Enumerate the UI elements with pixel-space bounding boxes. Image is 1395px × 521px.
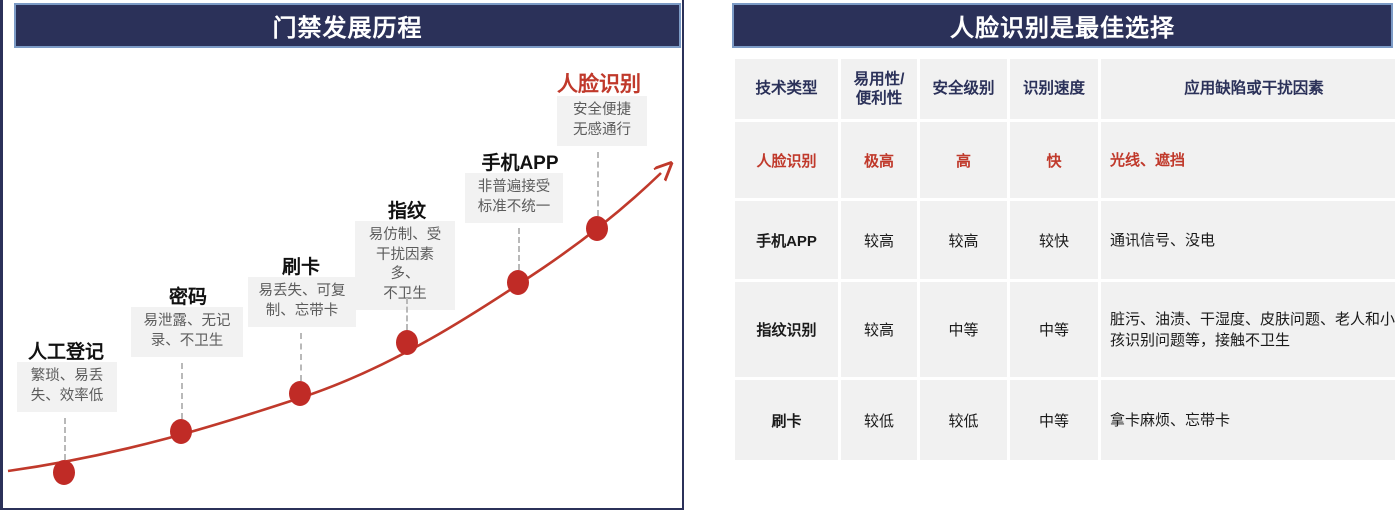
cell-security: 高 (920, 122, 1007, 198)
cell-usability: 较低 (841, 380, 917, 460)
column-header-drawbacks: 应用缺陷或干扰因素 (1101, 59, 1395, 119)
cell-speed: 较快 (1010, 201, 1098, 279)
cell-tech: 人脸识别 (735, 122, 838, 198)
data-point-4 (396, 330, 418, 355)
cell-security: 中等 (920, 282, 1007, 377)
data-point-5 (507, 270, 529, 295)
comparison-table: 技术类型 易用性/ 便利性 安全级别 识别速度 应用缺陷或干扰因素 人脸识别 极… (732, 56, 1395, 463)
table-row: 手机APP 较高 较高 较快 通讯信号、没电 (735, 201, 1395, 279)
table-row: 刷卡 较低 较低 中等 拿卡麻烦、忘带卡 (735, 380, 1395, 460)
cell-security: 较低 (920, 380, 1007, 460)
column-header-tech: 技术类型 (735, 59, 838, 119)
connector-1 (64, 418, 66, 460)
connector-3 (300, 333, 302, 381)
cell-speed: 快 (1010, 122, 1098, 198)
cell-usability: 极高 (841, 122, 917, 198)
cell-tech: 刷卡 (735, 380, 838, 460)
cell-usability: 较高 (841, 201, 917, 279)
stage-title-1: 人工登记 (11, 337, 121, 364)
slide-root: 门禁发展历程 人工登记 繁琐、易丢 失、效率低 密码 易泄露、无记 录、不卫生 (0, 0, 1395, 521)
stage-title-2: 密码 (133, 282, 243, 309)
stage-note-6: 安全便捷 无感通行 (557, 96, 647, 146)
comparison-panel: 人脸识别是最佳选择 技术类型 易用性/ 便利性 安全级别 识别速度 应用缺陷或干… (732, 0, 1395, 521)
stage-note-4: 易仿制、受 干扰因素多、 不卫生 (355, 221, 455, 310)
stage-note-5: 非普遍接受 标准不统一 (465, 173, 563, 223)
cell-drawbacks: 光线、遮挡 (1101, 122, 1395, 198)
cell-drawbacks: 脏污、油渍、干湿度、皮肤问题、老人和小孩识别问题等，接触不卫生 (1101, 282, 1395, 377)
stage-note-2: 易泄露、无记 录、不卫生 (131, 307, 243, 357)
table-row: 指纹识别 较高 中等 中等 脏污、油渍、干湿度、皮肤问题、老人和小孩识别问题等，… (735, 282, 1395, 377)
stage-title-4: 指纹 (359, 196, 455, 223)
cell-speed: 中等 (1010, 380, 1098, 460)
cell-usability: 较高 (841, 282, 917, 377)
cell-drawbacks: 通讯信号、没电 (1101, 201, 1395, 279)
stage-title-5: 手机APP (464, 148, 576, 175)
cell-speed: 中等 (1010, 282, 1098, 377)
evolution-chart-area: 人工登记 繁琐、易丢 失、效率低 密码 易泄露、无记 录、不卫生 刷卡 易丢失、… (3, 56, 682, 508)
data-point-1 (53, 460, 75, 485)
cell-tech: 手机APP (735, 201, 838, 279)
data-point-2 (170, 419, 192, 444)
stage-note-3: 易丢失、可复 制、忘带卡 (248, 277, 356, 327)
data-point-6 (586, 216, 608, 241)
cell-drawbacks: 拿卡麻烦、忘带卡 (1101, 380, 1395, 460)
connector-2 (181, 363, 183, 419)
comparison-title: 人脸识别是最佳选择 (950, 8, 1175, 43)
data-point-3 (289, 381, 311, 406)
table-row: 人脸识别 极高 高 快 光线、遮挡 (735, 122, 1395, 198)
column-header-speed: 识别速度 (1010, 59, 1098, 119)
table-header-row: 技术类型 易用性/ 便利性 安全级别 识别速度 应用缺陷或干扰因素 (735, 59, 1395, 119)
column-header-security: 安全级别 (920, 59, 1007, 119)
column-header-usability: 易用性/ 便利性 (841, 59, 917, 119)
connector-4 (406, 298, 408, 330)
connector-5 (518, 228, 520, 270)
evolution-panel: 门禁发展历程 人工登记 繁琐、易丢 失、效率低 密码 易泄露、无记 录、不卫生 (0, 0, 684, 510)
stage-title-3: 刷卡 (251, 252, 351, 279)
cell-tech: 指纹识别 (735, 282, 838, 377)
stage-note-1: 繁琐、易丢 失、效率低 (17, 362, 117, 412)
cell-security: 较高 (920, 201, 1007, 279)
stage-title-6: 人脸识别 (537, 68, 661, 98)
connector-6 (597, 152, 599, 216)
comparison-header: 人脸识别是最佳选择 (732, 3, 1393, 48)
